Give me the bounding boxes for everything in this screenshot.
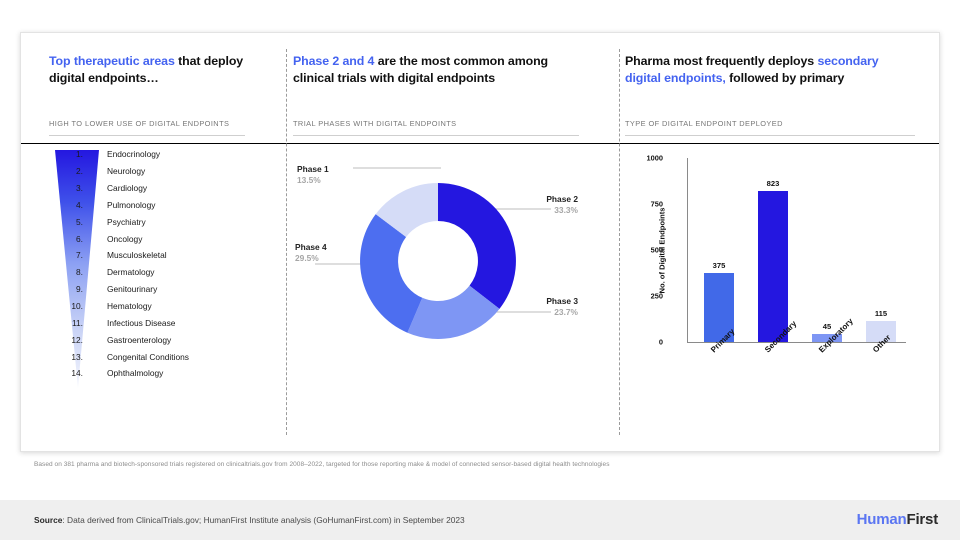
list-item[interactable]: 2.Neurology [49,163,245,180]
panel-trial-phases: Phase 2 and 4 are the most common among … [267,33,601,451]
bar-other[interactable]: 115 Other [866,321,896,342]
panel-2-headline-accent: Phase 2 and 4 [293,54,374,68]
panel-endpoint-types: Pharma most frequently deploys secondary… [601,33,939,451]
donut-label-phase-2-value: 33.3% [500,205,578,216]
bar-primary-label: Primary [709,327,736,354]
list-item-number: 4. [49,200,83,210]
panel-3-divider [601,143,939,144]
panel-therapeutic-areas: Top therapeutic areas that deploy digita… [21,33,267,451]
donut-label-phase-3: Phase 3 23.7% [500,296,578,319]
bar-exploratory-value: 45 [823,322,831,331]
list-item-label: Infectious Disease [83,318,175,328]
panel-2-headline: Phase 2 and 4 are the most common among … [293,53,579,97]
list-item[interactable]: 3.Cardiology [49,180,245,197]
list-item-label: Musculoskeletal [83,250,167,260]
donut-label-phase-4: Phase 4 29.5% [295,242,327,265]
therapeutic-area-list: 1.Endocrinology 2.Neurology 3.Cardiology… [49,146,245,382]
panel-1-kicker: HIGH TO LOWER USE OF DIGITAL ENDPOINTS [49,119,245,128]
source-text: : Data derived from ClinicalTrials.gov; … [62,515,464,525]
list-item-label: Hematology [83,301,152,311]
list-item[interactable]: 11.Infectious Disease [49,314,245,331]
y-tick-1000: 1000 [633,154,663,163]
list-item-label: Pulmonology [83,200,155,210]
donut-label-phase-1-value: 13.5% [297,175,329,186]
donut-label-phase-1-name: Phase 1 [297,164,329,175]
list-item-number: 13. [49,352,83,362]
bar-primary-value: 375 [713,261,726,270]
panel-3-headline-post: followed by primary [726,71,845,85]
bar-exploratory[interactable]: 45 Exploratory [812,334,842,342]
list-item-number: 6. [49,234,83,244]
donut-slice-phase-4[interactable] [360,214,422,333]
therapeutic-area-list-wrap: 1.Endocrinology 2.Neurology 3.Cardiology… [49,146,245,382]
list-item-label: Cardiology [83,183,147,193]
bar-secondary-label: Secondary [763,319,798,354]
bar-secondary[interactable]: 823 Secondary [758,191,788,342]
panel-3-headline-pre: Pharma most frequently deploys [625,54,817,68]
panel-2-kicker-rule [293,135,579,136]
donut-label-phase-2-name: Phase 2 [500,194,578,205]
list-item[interactable]: 7.Musculoskeletal [49,247,245,264]
list-item-number: 5. [49,217,83,227]
list-item[interactable]: 9.Genitourinary [49,281,245,298]
donut-chart: Phase 1 13.5% Phase 2 33.3% Phase 3 23.7… [293,154,583,369]
list-item-number: 11. [49,318,83,328]
source-line: Source: Data derived from ClinicalTrials… [34,515,465,525]
panel-divider-right [619,49,620,435]
donut-slices [360,183,516,339]
list-item-label: Dermatology [83,267,154,277]
list-item[interactable]: 4.Pulmonology [49,197,245,214]
bar-other-value: 115 [875,309,887,318]
list-item[interactable]: 5.Psychiatry [49,213,245,230]
list-item-number: 3. [49,183,83,193]
panel-3-kicker: TYPE OF DIGITAL ENDPOINT DEPLOYED [625,119,915,128]
panel-1-headline: Top therapeutic areas that deploy digita… [49,53,245,97]
y-tick-0: 0 [633,338,663,347]
slide: Top therapeutic areas that deploy digita… [0,0,960,540]
donut-label-phase-3-value: 23.7% [500,307,578,318]
donut-label-phase-4-name: Phase 4 [295,242,327,253]
source-label: Source [34,515,62,525]
panel-1-headline-accent: Top therapeutic areas [49,54,175,68]
list-item-number: 14. [49,368,83,378]
list-item-number: 8. [49,267,83,277]
list-item-number: 7. [49,250,83,260]
list-item[interactable]: 10.Hematology [49,298,245,315]
panel-3-headline: Pharma most frequently deploys secondary… [625,53,915,97]
panel-3-kicker-rule [625,135,915,136]
donut-label-phase-4-value: 29.5% [295,253,327,264]
list-item[interactable]: 14.Ophthalmology [49,365,245,382]
list-item-label: Gastroenterology [83,335,171,345]
list-item-label: Psychiatry [83,217,146,227]
donut-chart-svg [293,154,583,369]
list-item[interactable]: 12.Gastroenterology [49,331,245,348]
y-tick-500: 500 [633,246,663,255]
list-item-number: 1. [49,149,83,159]
humanfirst-logo: HumanFirst [857,511,938,528]
list-item[interactable]: 13.Congenital Conditions [49,348,245,365]
bar-secondary-value: 823 [767,179,780,188]
logo-first-word: Human [857,511,907,528]
list-item-label: Endocrinology [83,149,160,159]
bar-primary[interactable]: 375 Primary [704,273,734,342]
y-tick-250: 250 [633,292,663,301]
list-item-label: Congenital Conditions [83,352,189,362]
list-item[interactable]: 1.Endocrinology [49,146,245,163]
panel-1-kicker-rule [49,135,245,136]
bar-chart: No. of Digital Endpoints 1000 750 500 25… [625,150,917,365]
logo-second-word: First [906,511,938,528]
list-item-number: 12. [49,335,83,345]
list-item-number: 2. [49,166,83,176]
donut-label-phase-3-name: Phase 3 [500,296,578,307]
list-item[interactable]: 8.Dermatology [49,264,245,281]
bar-other-label: Other [871,333,892,354]
donut-label-phase-1: Phase 1 13.5% [297,164,329,187]
content-card: Top therapeutic areas that deploy digita… [20,32,940,452]
list-item-label: Neurology [83,166,145,176]
footnote: Based on 381 pharma and biotech-sponsore… [34,461,914,468]
list-item-label: Genitourinary [83,284,157,294]
list-item-label: Ophthalmology [83,368,163,378]
bar-chart-plot-area: 375 Primary 823 Secondary 45 Exploratory… [687,158,906,343]
panel-divider-left [286,49,287,435]
panel-1-divider [21,143,267,144]
list-item-label: Oncology [83,234,142,244]
y-tick-750: 750 [633,200,663,209]
list-item-number: 9. [49,284,83,294]
donut-label-phase-2: Phase 2 33.3% [500,194,578,217]
panel-2-divider [267,143,601,144]
panel-2-kicker: TRIAL PHASES WITH DIGITAL ENDPOINTS [293,119,579,128]
list-item[interactable]: 6.Oncology [49,230,245,247]
list-item-number: 10. [49,301,83,311]
